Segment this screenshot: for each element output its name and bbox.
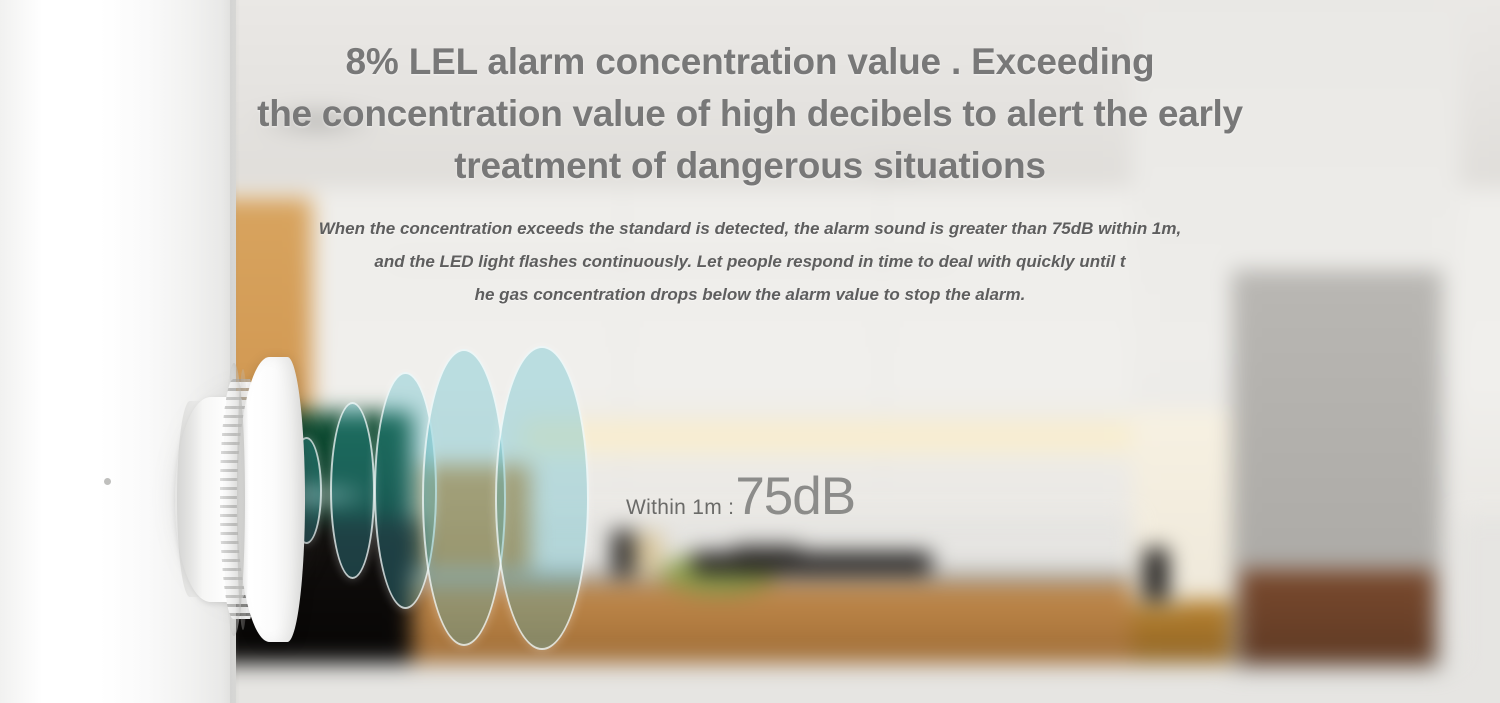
wave-2 <box>330 402 375 579</box>
subcopy-line-3: he gas concentration drops below the ala… <box>0 278 1500 311</box>
subcopy-line-1: When the concentration exceeds the stand… <box>0 212 1500 245</box>
detector-back-rim <box>177 401 203 597</box>
description-paragraph: When the concentration exceeds the stand… <box>0 212 1500 311</box>
decibel-callout-prefix: Within 1m : <box>626 496 734 520</box>
headline-line-3: treatment of dangerous situations <box>0 140 1500 192</box>
gas-alarm-detector <box>175 357 305 642</box>
wave-4 <box>422 349 506 646</box>
decibel-callout-value: 75dB <box>735 470 855 523</box>
wave-5 <box>495 346 589 650</box>
headline-line-1: 8% LEL alarm concentration value . Excee… <box>0 36 1500 88</box>
product-banner: 8% LEL alarm concentration value . Excee… <box>0 0 1500 703</box>
decibel-callout: Within 1m : 75dB <box>626 470 855 523</box>
status-led-icon <box>104 478 111 485</box>
page-title: 8% LEL alarm concentration value . Excee… <box>0 36 1500 192</box>
headline-line-2: the concentration value of high decibels… <box>0 88 1500 140</box>
detector-body-seam <box>237 369 249 630</box>
subcopy-line-2: and the LED light flashes continuously. … <box>0 245 1500 278</box>
